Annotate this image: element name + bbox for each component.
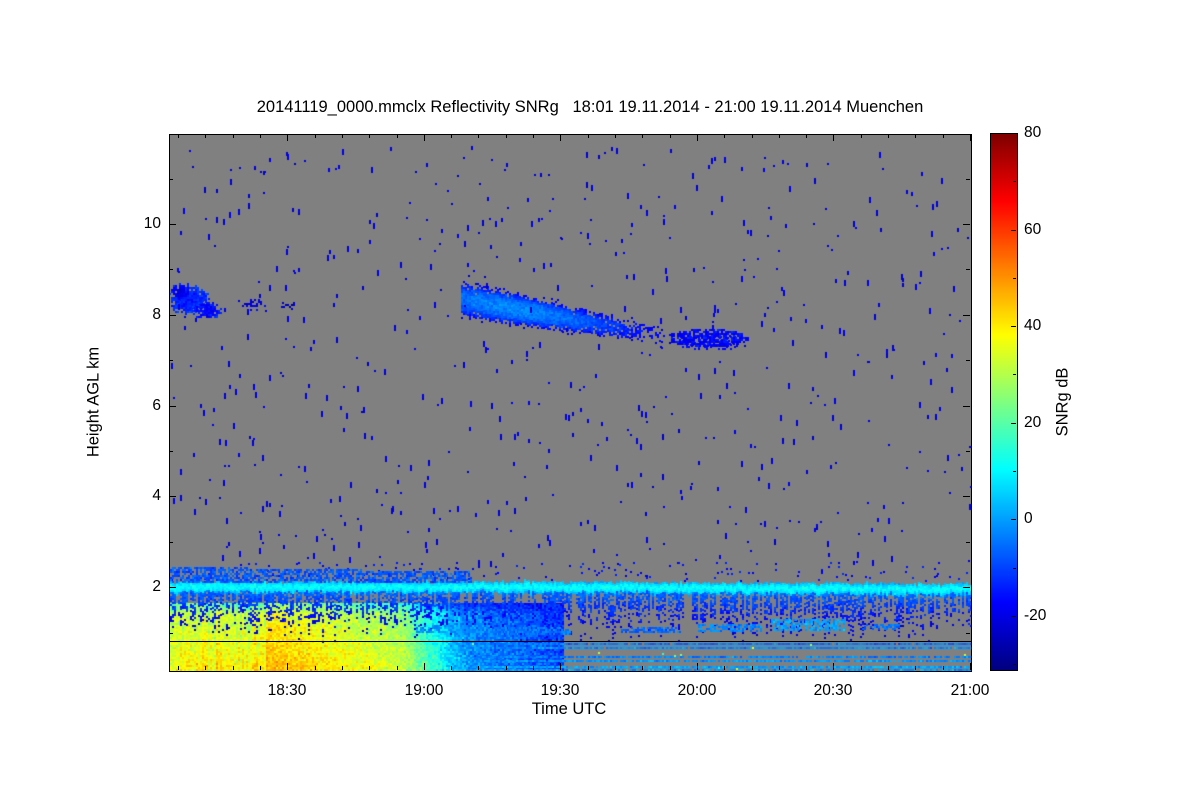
colorbar-tick [1011, 230, 1016, 231]
y-tick-label: 10 [123, 215, 161, 233]
colorbar-tick-label: 0 [1024, 510, 1033, 528]
colorbar-tick [1011, 133, 1016, 134]
colorbar-tick-label: -20 [1024, 607, 1046, 625]
y-tick [169, 406, 176, 407]
x-tick-label: 20:30 [814, 682, 853, 700]
x-minor-tick-top [205, 134, 206, 138]
colorbar-tick [1011, 326, 1016, 327]
y-tick-right [963, 224, 970, 225]
y-tick [169, 587, 176, 588]
x-tick-label: 19:00 [405, 682, 444, 700]
y-minor-tick [169, 179, 173, 180]
melting-layer-line [170, 641, 971, 642]
y-minor-tick-right [966, 360, 970, 361]
x-tick [560, 663, 561, 670]
x-minor-tick-top [806, 134, 807, 138]
x-minor-tick [642, 666, 643, 670]
radar-figure: 20141119_0000.mmclx Reflectivity SNRg 18… [0, 0, 1200, 800]
colorbar [990, 133, 1018, 671]
x-minor-tick [397, 666, 398, 670]
x-minor-tick [315, 666, 316, 670]
x-tick-label: 18:30 [268, 682, 307, 700]
colorbar-gradient [991, 134, 1017, 670]
colorbar-minor-tick [1013, 278, 1016, 279]
x-minor-tick-top [178, 134, 179, 138]
x-minor-tick [615, 666, 616, 670]
colorbar-minor-tick [1013, 374, 1016, 375]
reflectivity-heatmap [170, 135, 971, 671]
x-minor-tick-top [915, 134, 916, 138]
colorbar-tick [1011, 423, 1016, 424]
y-tick-label: 2 [123, 578, 161, 596]
y-tick [169, 315, 176, 316]
y-tick-label: 6 [123, 397, 161, 415]
x-tick [970, 663, 971, 670]
x-minor-tick [915, 666, 916, 670]
colorbar-tick-label: 80 [1024, 124, 1041, 142]
y-tick-label: 8 [123, 306, 161, 324]
y-tick [169, 224, 176, 225]
y-tick-right [963, 496, 970, 497]
y-minor-tick [169, 633, 173, 634]
x-minor-tick-top [478, 134, 479, 138]
x-minor-tick-top [397, 134, 398, 138]
x-minor-tick-top [861, 134, 862, 138]
x-minor-tick [178, 666, 179, 670]
colorbar-tick [1011, 519, 1016, 520]
x-tick-label: 20:00 [678, 682, 717, 700]
x-minor-tick-top [615, 134, 616, 138]
colorbar-tick-label: 40 [1024, 317, 1041, 335]
x-tick-top [560, 134, 561, 141]
x-tick-label: 19:30 [541, 682, 580, 700]
x-minor-tick [943, 666, 944, 670]
x-minor-tick [588, 666, 589, 670]
x-minor-tick [478, 666, 479, 670]
x-tick-top [287, 134, 288, 141]
x-minor-tick [260, 666, 261, 670]
y-tick-right [963, 406, 970, 407]
x-minor-tick [342, 666, 343, 670]
x-minor-tick [888, 666, 889, 670]
x-minor-tick-top [315, 134, 316, 138]
y-tick-right [963, 587, 970, 588]
page-title: 20141119_0000.mmclx Reflectivity SNRg 18… [0, 98, 1180, 117]
colorbar-minor-tick [1013, 664, 1016, 665]
x-minor-tick [806, 666, 807, 670]
y-minor-tick-right [966, 269, 970, 270]
x-minor-tick-top [533, 134, 534, 138]
y-minor-tick [169, 360, 173, 361]
y-minor-tick [169, 542, 173, 543]
x-tick-label: 21:00 [951, 682, 990, 700]
x-minor-tick-top [260, 134, 261, 138]
x-minor-tick-top [943, 134, 944, 138]
y-minor-tick [169, 451, 173, 452]
x-tick [697, 663, 698, 670]
y-minor-tick [169, 269, 173, 270]
x-minor-tick-top [369, 134, 370, 138]
x-minor-tick-top [451, 134, 452, 138]
x-minor-tick-top [888, 134, 889, 138]
y-axis-label: Height AGL km [85, 347, 104, 457]
x-tick-top [697, 134, 698, 141]
x-tick [287, 663, 288, 670]
y-minor-tick-right [966, 179, 970, 180]
x-minor-tick-top [779, 134, 780, 138]
x-minor-tick-top [342, 134, 343, 138]
x-minor-tick [670, 666, 671, 670]
colorbar-tick [1011, 616, 1016, 617]
x-tick-top [970, 134, 971, 141]
x-tick [833, 663, 834, 670]
y-tick-right [963, 315, 970, 316]
y-minor-tick-right [966, 451, 970, 452]
x-minor-tick [861, 666, 862, 670]
x-minor-tick [506, 666, 507, 670]
y-minor-tick-right [966, 633, 970, 634]
x-minor-tick [451, 666, 452, 670]
x-tick [424, 663, 425, 670]
x-minor-tick-top [724, 134, 725, 138]
colorbar-tick-label: 20 [1024, 414, 1041, 432]
x-tick-top [833, 134, 834, 141]
colorbar-minor-tick [1013, 568, 1016, 569]
colorbar-tick-label: 60 [1024, 221, 1041, 239]
x-axis-label: Time UTC [532, 700, 607, 719]
y-tick-label: 4 [123, 487, 161, 505]
y-minor-tick-right [966, 542, 970, 543]
x-minor-tick [369, 666, 370, 670]
y-tick [169, 496, 176, 497]
x-tick-top [424, 134, 425, 141]
x-minor-tick-top [670, 134, 671, 138]
colorbar-minor-tick [1013, 471, 1016, 472]
x-minor-tick [205, 666, 206, 670]
colorbar-label: SNRg dB [1054, 368, 1073, 437]
colorbar-minor-tick [1013, 181, 1016, 182]
plot-area [169, 134, 972, 672]
x-minor-tick-top [588, 134, 589, 138]
x-minor-tick-top [642, 134, 643, 138]
x-minor-tick [724, 666, 725, 670]
x-minor-tick [752, 666, 753, 670]
x-minor-tick [779, 666, 780, 670]
x-minor-tick-top [233, 134, 234, 138]
x-minor-tick [533, 666, 534, 670]
x-minor-tick [233, 666, 234, 670]
x-minor-tick-top [752, 134, 753, 138]
x-minor-tick-top [506, 134, 507, 138]
